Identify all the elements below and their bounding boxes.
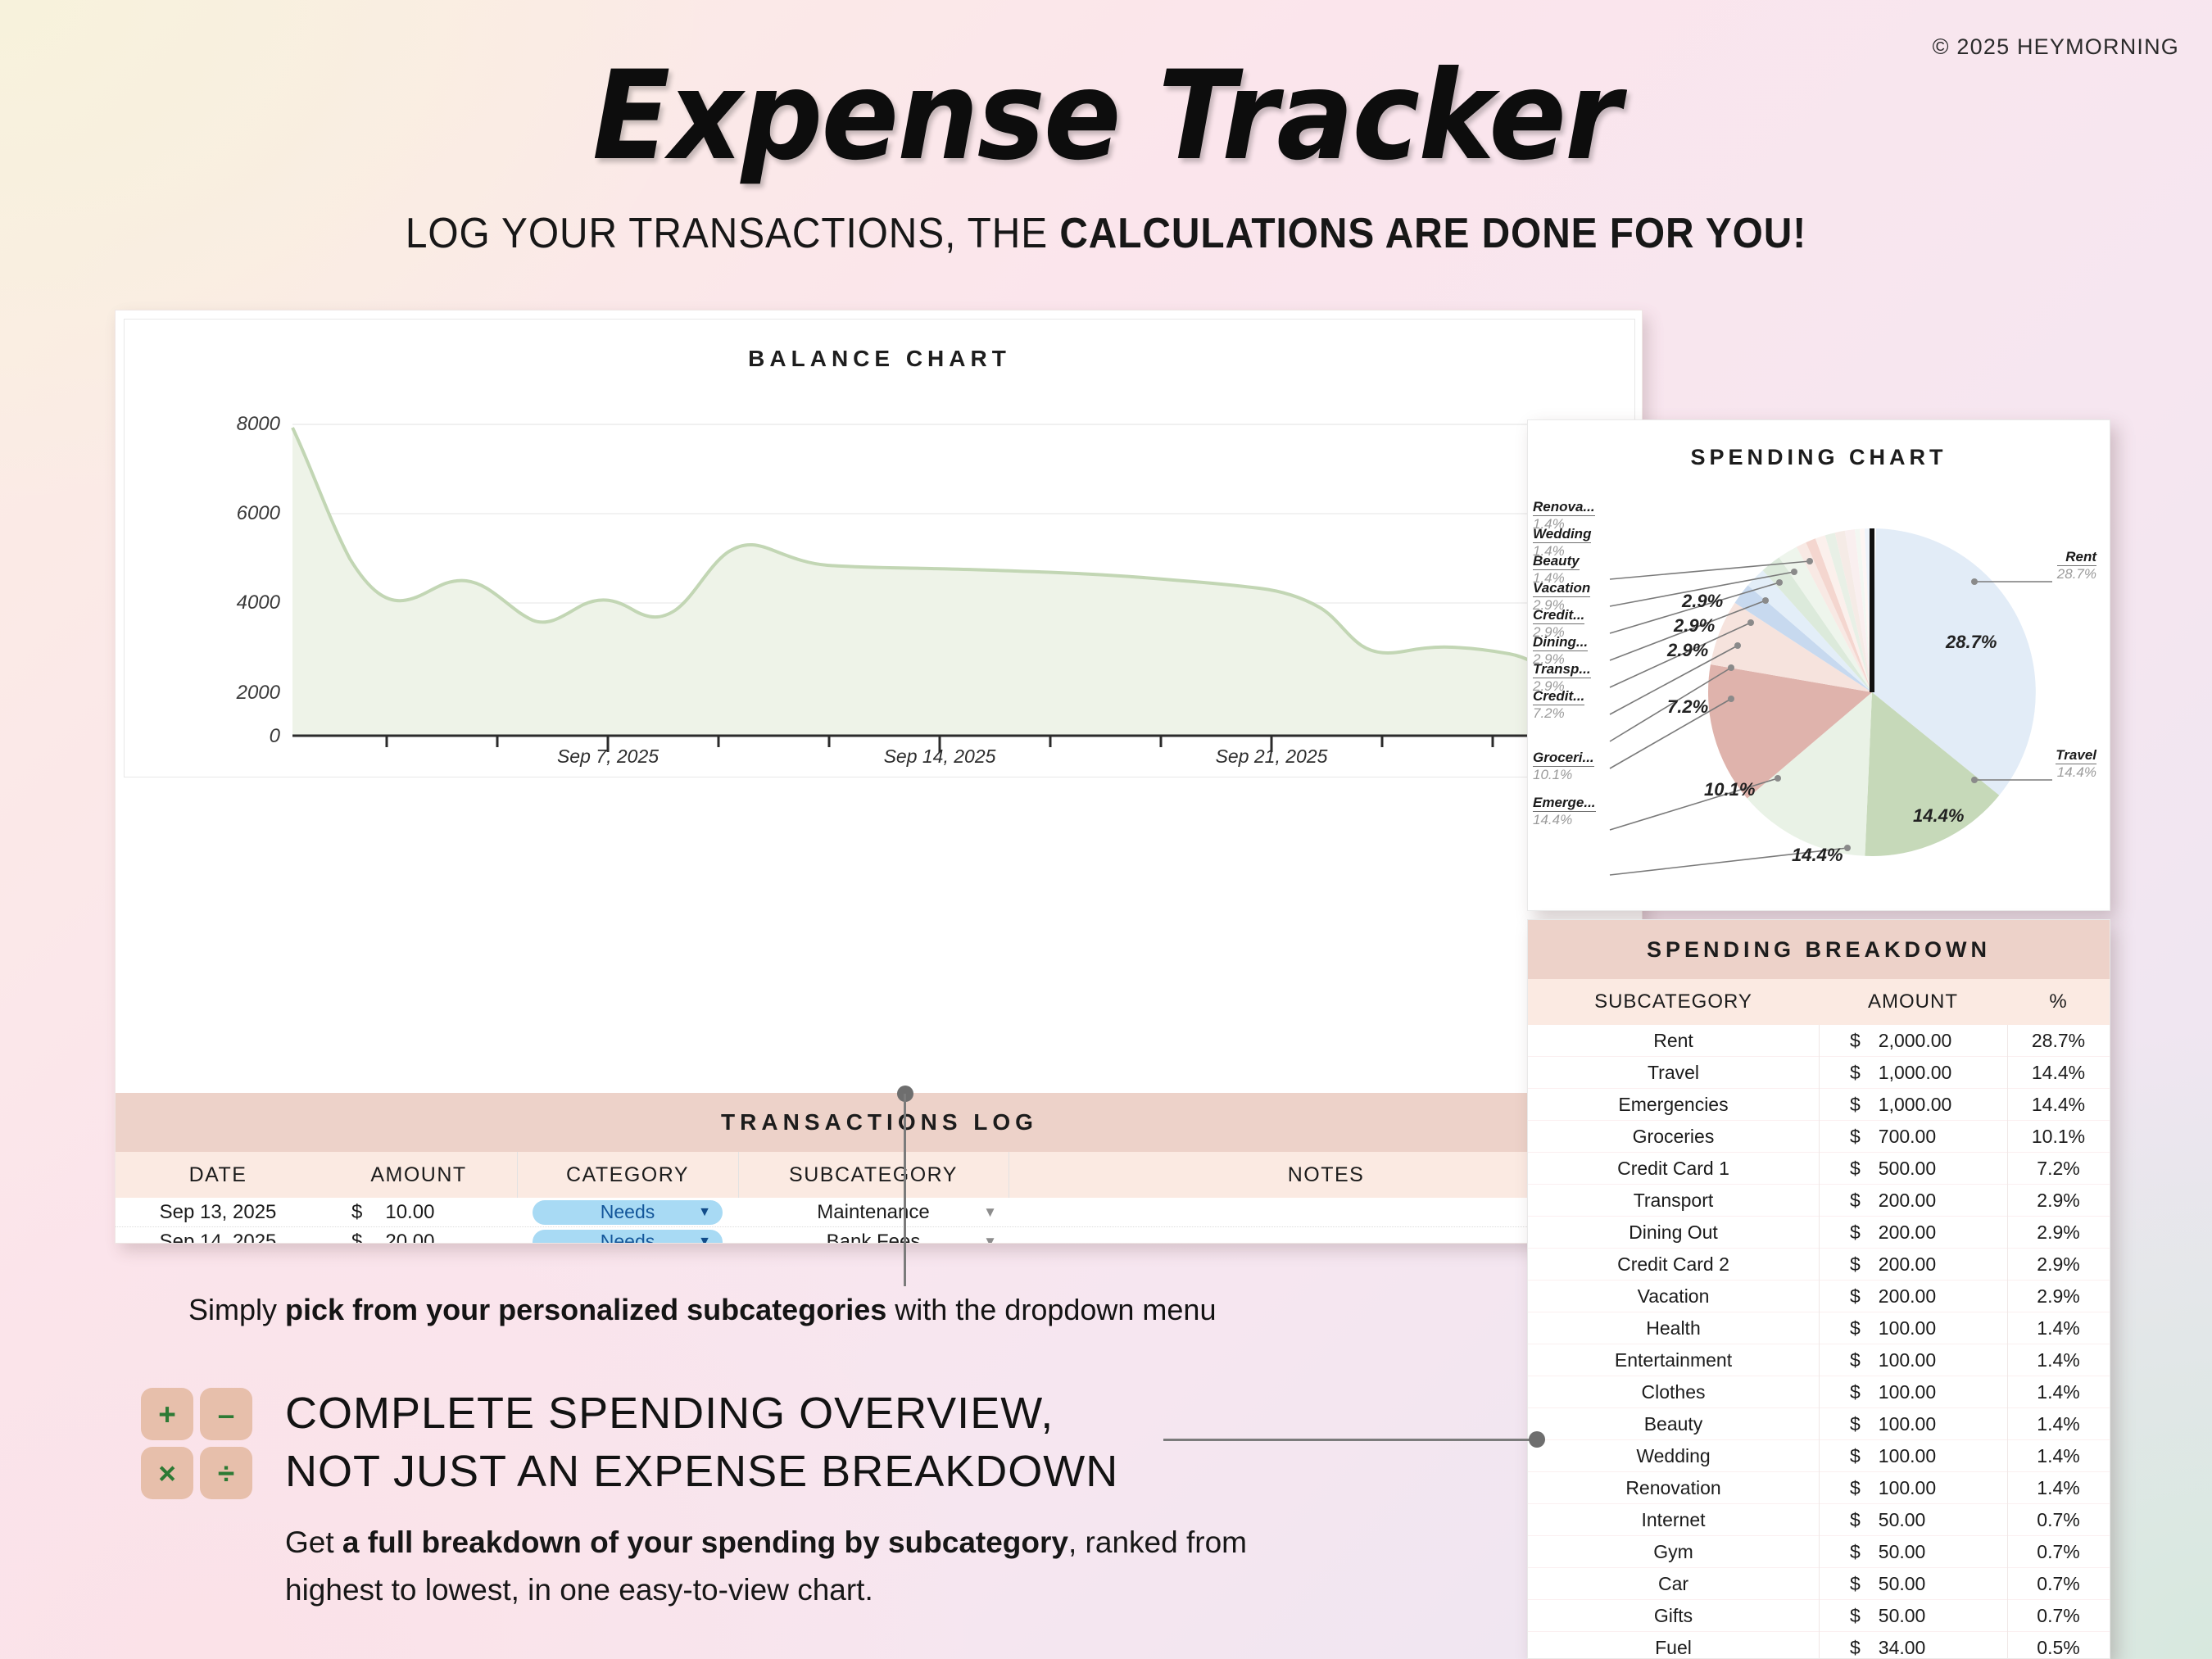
cell-date[interactable]: Sep 13, 2025 xyxy=(116,1201,320,1224)
sbh-percent: % xyxy=(2007,990,2110,1013)
cell-amount: $100.00 xyxy=(1819,1445,2007,1467)
cell-amount: $700.00 xyxy=(1819,1126,2007,1148)
cell-amount: $100.00 xyxy=(1819,1477,2007,1499)
page-subtitle: LOG YOUR TRANSACTIONS, THE CALCULATIONS … xyxy=(88,209,2124,258)
feature-heading-line1: COMPLETE SPENDING OVERVIEW, xyxy=(285,1385,1118,1443)
category-dropdown[interactable]: Needs▼ xyxy=(533,1230,723,1244)
cell-subcategory: Wedding xyxy=(1528,1445,1819,1467)
cell-subcategory: Beauty xyxy=(1528,1413,1819,1435)
cell-subcategory: Car xyxy=(1528,1573,1819,1595)
feature-heading-line2: NOT JUST AN EXPENSE BREAKDOWN xyxy=(285,1443,1118,1501)
cell-percent: 0.7% xyxy=(2007,1509,2110,1531)
x-tick-sep-14: Sep 14, 2025 xyxy=(884,746,996,768)
subtitle-bold: CALCULATIONS ARE DONE FOR YOU! xyxy=(1059,210,1806,257)
table-row[interactable]: Sep 14, 2025$20.00Needs▼Bank Fees▼ xyxy=(116,1227,1643,1244)
pie-pct-travel: 14.4% xyxy=(1913,805,1964,827)
page-title: Expense Tracker xyxy=(78,45,2135,188)
spreadsheet-panel: BALANCE CHART 8000 6000 4000 2000 0 xyxy=(115,310,1643,1244)
chevron-down-icon: ▼ xyxy=(698,1205,711,1220)
feature-body-bold: a full breakdown of your spending by sub… xyxy=(342,1525,1068,1559)
cell-amount: $100.00 xyxy=(1819,1381,2007,1403)
chevron-down-icon: ▼ xyxy=(983,1234,997,1244)
cell-amount[interactable]: $20.00 xyxy=(320,1231,517,1244)
cell-percent: 0.7% xyxy=(2007,1541,2110,1563)
pie-callout-travel: Travel14.4% xyxy=(2056,747,2096,781)
cell-category[interactable]: Needs▼ xyxy=(517,1200,738,1225)
cell-amount: $50.00 xyxy=(1819,1541,2007,1563)
cell-percent: 1.4% xyxy=(2007,1477,2110,1499)
pie-callout-groceri: Groceri...10.1% xyxy=(1533,750,1594,783)
spending-breakdown-title: SPENDING BREAKDOWN xyxy=(1647,937,1991,963)
cell-percent: 28.7% xyxy=(2007,1030,2110,1052)
cell-subcategory: Vacation xyxy=(1528,1285,1819,1308)
cell-subcategory: Fuel xyxy=(1528,1637,1819,1659)
cell-percent: 1.4% xyxy=(2007,1445,2110,1467)
multiply-icon: × xyxy=(141,1447,193,1499)
cell-subcategory: Clothes xyxy=(1528,1381,1819,1403)
cell-date[interactable]: Sep 14, 2025 xyxy=(116,1231,320,1244)
cell-subcategory[interactable]: Maintenance▼ xyxy=(738,1201,1009,1224)
cell-amount: $200.00 xyxy=(1819,1253,2007,1276)
cell-percent: 2.9% xyxy=(2007,1222,2110,1244)
cell-amount: $100.00 xyxy=(1819,1317,2007,1339)
feature-body-prefix: Get xyxy=(285,1525,342,1559)
feature-body-suffix: , ranked from xyxy=(1068,1525,1247,1559)
cell-percent: 0.7% xyxy=(2007,1573,2110,1595)
cell-amount: $100.00 xyxy=(1819,1349,2007,1371)
cell-amount: $500.00 xyxy=(1819,1158,2007,1180)
callout-note-bold: pick from your personalized subcategorie… xyxy=(285,1293,886,1326)
plus-icon: + xyxy=(141,1388,193,1440)
spending-chart-title: SPENDING CHART xyxy=(1528,445,2110,470)
cell-amount: $2,000.00 xyxy=(1819,1030,2007,1052)
cell-subcategory: Gifts xyxy=(1528,1605,1819,1627)
cell-percent: 10.1% xyxy=(2007,1126,2110,1148)
cell-amount: $200.00 xyxy=(1819,1285,2007,1308)
th-category: CATEGORY xyxy=(517,1163,738,1187)
callout-line-subcategory xyxy=(904,1094,906,1286)
cell-percent: 0.5% xyxy=(2007,1637,2110,1659)
cell-subcategory: Credit Card 1 xyxy=(1528,1158,1819,1180)
transactions-log-title: TRANSACTIONS LOG xyxy=(721,1109,1038,1135)
cell-percent: 14.4% xyxy=(2007,1094,2110,1116)
cell-subcategory: Internet xyxy=(1528,1509,1819,1531)
cell-amount: $100.00 xyxy=(1819,1413,2007,1435)
chevron-down-icon: ▼ xyxy=(698,1235,711,1244)
cell-amount: $50.00 xyxy=(1819,1573,2007,1595)
balance-chart-title: BALANCE CHART xyxy=(125,346,1634,372)
cell-subcategory: Dining Out xyxy=(1528,1222,1819,1244)
x-tick-sep-21: Sep 21, 2025 xyxy=(1216,746,1328,768)
feature-body: Get a full breakdown of your spending by… xyxy=(285,1519,1247,1613)
cell-amount: $1,000.00 xyxy=(1819,1094,2007,1116)
spending-pie-svg xyxy=(1528,479,2111,905)
cell-subcategory: Entertainment xyxy=(1528,1349,1819,1371)
cell-subcategory[interactable]: Bank Fees▼ xyxy=(738,1231,1009,1244)
cell-percent: 1.4% xyxy=(2007,1381,2110,1403)
pie-pct-credit1: 7.2% xyxy=(1667,696,1708,718)
callout-note-suffix: with the dropdown menu xyxy=(886,1293,1216,1326)
sbh-subcategory: SUBCATEGORY xyxy=(1528,990,1819,1013)
transactions-log-band: TRANSACTIONS LOG xyxy=(116,1093,1643,1152)
minus-icon: – xyxy=(200,1388,252,1440)
spending-breakdown-band: SPENDING BREAKDOWN xyxy=(1528,920,2110,979)
table-row[interactable]: Sep 13, 2025$10.00Needs▼Maintenance▼ xyxy=(116,1198,1643,1227)
cell-amount: $200.00 xyxy=(1819,1222,2007,1244)
cell-subcategory: Travel xyxy=(1528,1062,1819,1084)
cell-subcategory: Gym xyxy=(1528,1541,1819,1563)
cell-subcategory: Credit Card 2 xyxy=(1528,1253,1819,1276)
pie-slices xyxy=(1708,528,2036,856)
sbh-amount: AMOUNT xyxy=(1819,990,2007,1013)
transactions-header-row: DATE AMOUNT CATEGORY SUBCATEGORY NOTES xyxy=(116,1152,1643,1198)
th-amount: AMOUNT xyxy=(320,1163,517,1187)
pie-pct-groceries: 10.1% xyxy=(1704,779,1755,800)
divide-icon: ÷ xyxy=(200,1447,252,1499)
cell-subcategory: Transport xyxy=(1528,1190,1819,1212)
cell-subcategory: Rent xyxy=(1528,1030,1819,1052)
th-subcategory: SUBCATEGORY xyxy=(738,1163,1009,1187)
pie-pct-transport: 2.9% xyxy=(1667,640,1708,661)
pie-pct-credit2: 2.9% xyxy=(1682,591,1723,612)
balance-chart-card: BALANCE CHART 8000 6000 4000 2000 0 xyxy=(124,319,1635,777)
pie-pct-emerge: 14.4% xyxy=(1792,845,1843,866)
cell-percent: 1.4% xyxy=(2007,1413,2110,1435)
category-dropdown[interactable]: Needs▼ xyxy=(533,1200,723,1225)
pie-callout-emerge: Emerge...14.4% xyxy=(1533,795,1596,828)
cell-subcategory: Health xyxy=(1528,1317,1819,1339)
pie-callout-credit: Credit...7.2% xyxy=(1533,688,1584,722)
cell-percent: 14.4% xyxy=(2007,1062,2110,1084)
feature-body-line2: highest to lowest, in one easy-to-view c… xyxy=(285,1566,1247,1614)
callout-line-breakdown xyxy=(1163,1439,1536,1441)
cell-amount: $200.00 xyxy=(1819,1190,2007,1212)
cell-amount: $50.00 xyxy=(1819,1509,2007,1531)
callout-dot-breakdown xyxy=(1529,1431,1545,1448)
calculator-icon: + – × ÷ xyxy=(141,1388,252,1499)
cell-percent: 1.4% xyxy=(2007,1317,2110,1339)
feature-heading: COMPLETE SPENDING OVERVIEW, NOT JUST AN … xyxy=(285,1385,1118,1502)
callout-subcategory-note: Simply pick from your personalized subca… xyxy=(188,1293,1216,1327)
balance-area-svg xyxy=(125,377,1636,774)
spending-chart-panel: SPENDING CHART xyxy=(1527,419,2110,911)
pie-callout-rent: Rent28.7% xyxy=(2057,549,2096,582)
pie-pct-rent: 28.7% xyxy=(1946,632,1997,653)
spending-breakdown-panel: SPENDING BREAKDOWN SUBCATEGORY AMOUNT % … xyxy=(1527,919,2110,1659)
cell-subcategory: Emergencies xyxy=(1528,1094,1819,1116)
cell-percent: 1.4% xyxy=(2007,1349,2110,1371)
cell-amount: $34.00 xyxy=(1819,1637,2007,1659)
cell-category[interactable]: Needs▼ xyxy=(517,1230,738,1244)
spending-breakdown-header-row: SUBCATEGORY AMOUNT % xyxy=(1528,979,2110,1025)
cell-amount: $1,000.00 xyxy=(1819,1062,2007,1084)
subtitle-plain: LOG YOUR TRANSACTIONS, THE xyxy=(406,210,1059,257)
cell-percent: 2.9% xyxy=(2007,1285,2110,1308)
cell-percent: 0.7% xyxy=(2007,1605,2110,1627)
cell-amount: $50.00 xyxy=(1819,1605,2007,1627)
pie-pct-dining: 2.9% xyxy=(1674,615,1715,637)
x-tick-sep-7: Sep 7, 2025 xyxy=(557,746,659,768)
cell-percent: 7.2% xyxy=(2007,1158,2110,1180)
cell-amount[interactable]: $10.00 xyxy=(320,1201,517,1224)
callout-note-prefix: Simply xyxy=(188,1293,285,1326)
cell-subcategory: Groceries xyxy=(1528,1126,1819,1148)
cell-percent: 2.9% xyxy=(2007,1253,2110,1276)
cell-subcategory: Renovation xyxy=(1528,1477,1819,1499)
balance-chart-plot: 8000 6000 4000 2000 0 xyxy=(125,377,1636,774)
chevron-down-icon: ▼ xyxy=(983,1204,997,1221)
cell-percent: 2.9% xyxy=(2007,1190,2110,1212)
th-date: DATE xyxy=(116,1163,320,1187)
